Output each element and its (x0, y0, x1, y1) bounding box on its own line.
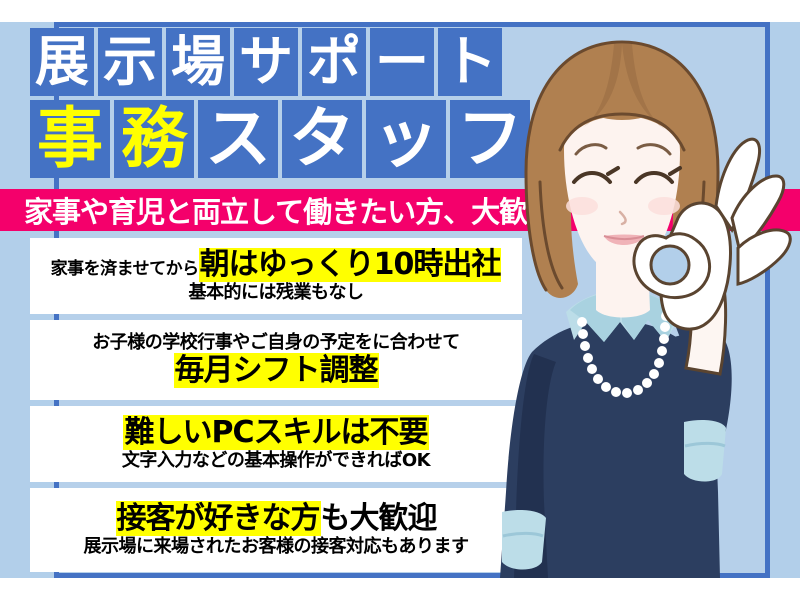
title-tile-accent: 務 (114, 100, 194, 178)
title-tile: フ (450, 100, 530, 178)
title-tile: ー (370, 28, 434, 96)
feature-card: 接客が好きな方も大歓迎 展示場に来場されたお客様の接客対応もあります (30, 488, 522, 572)
card-pre-text: 家事を済ませてから (51, 254, 199, 282)
card-headline-tail: も大歓迎 (321, 501, 437, 536)
feature-card: 難しいPCスキルは不要 文字入力などの基本操作ができればOK (30, 406, 522, 482)
title-tile: ポ (302, 28, 366, 96)
banner-text: 家事や育児と両立して働きたい方、大歓迎！ (24, 189, 583, 231)
feature-card-list: 家事を済ませてから 朝はゆっくり10時出社 基本的には残業もなし お子様の学校行… (30, 238, 522, 578)
highlight-banner: 家事や育児と両立して働きたい方、大歓迎！ (0, 189, 800, 231)
title-tile: 示 (98, 28, 162, 96)
poster-title: 展 示 場 サ ポ ー ト 事 務 ス タ ッ フ (30, 28, 530, 182)
card-headline: 難しいPCスキルは不要 (123, 415, 428, 450)
card-pre-text: お子様の学校行事やご自身の予定をに合わせて (34, 332, 518, 355)
title-tile: 展 (30, 28, 94, 96)
card-headline-row: 難しいPCスキルは不要 (34, 416, 518, 450)
card-headline-row: 接客が好きな方も大歓迎 (34, 502, 518, 536)
title-tile: 場 (166, 28, 230, 96)
title-tile: ト (438, 28, 502, 96)
card-headline-row: 毎月シフト調整 (34, 354, 518, 388)
job-advertisement-poster: 展 示 場 サ ポ ー ト 事 務 ス タ ッ フ 家事や育児と両立して働きたい… (0, 0, 800, 600)
card-sub-text: 展示場に来場されたお客様の接客対応もあります (34, 536, 518, 559)
card-sub-text: 基本的には残業もなし (34, 282, 518, 305)
card-sub-text: 文字入力などの基本操作ができればOK (34, 450, 518, 473)
title-tile: ス (198, 100, 278, 178)
card-headline-row: 家事を済ませてから 朝はゆっくり10時出社 (34, 248, 518, 282)
title-tile-accent: 事 (30, 100, 110, 178)
card-headline: 接客が好きな方 (116, 501, 321, 536)
feature-card: お子様の学校行事やご自身の予定をに合わせて 毎月シフト調整 (30, 320, 522, 400)
feature-card: 家事を済ませてから 朝はゆっくり10時出社 基本的には残業もなし (30, 238, 522, 314)
title-tile: タ (282, 100, 362, 178)
card-headline: 毎月シフト調整 (174, 353, 379, 388)
card-headline: 朝はゆっくり10時出社 (199, 248, 502, 282)
title-tile: ッ (366, 100, 446, 178)
title-tile: サ (234, 28, 298, 96)
title-row-2: 事 務 ス タ ッ フ (30, 100, 530, 178)
title-row-1: 展 示 場 サ ポ ー ト (30, 28, 530, 96)
